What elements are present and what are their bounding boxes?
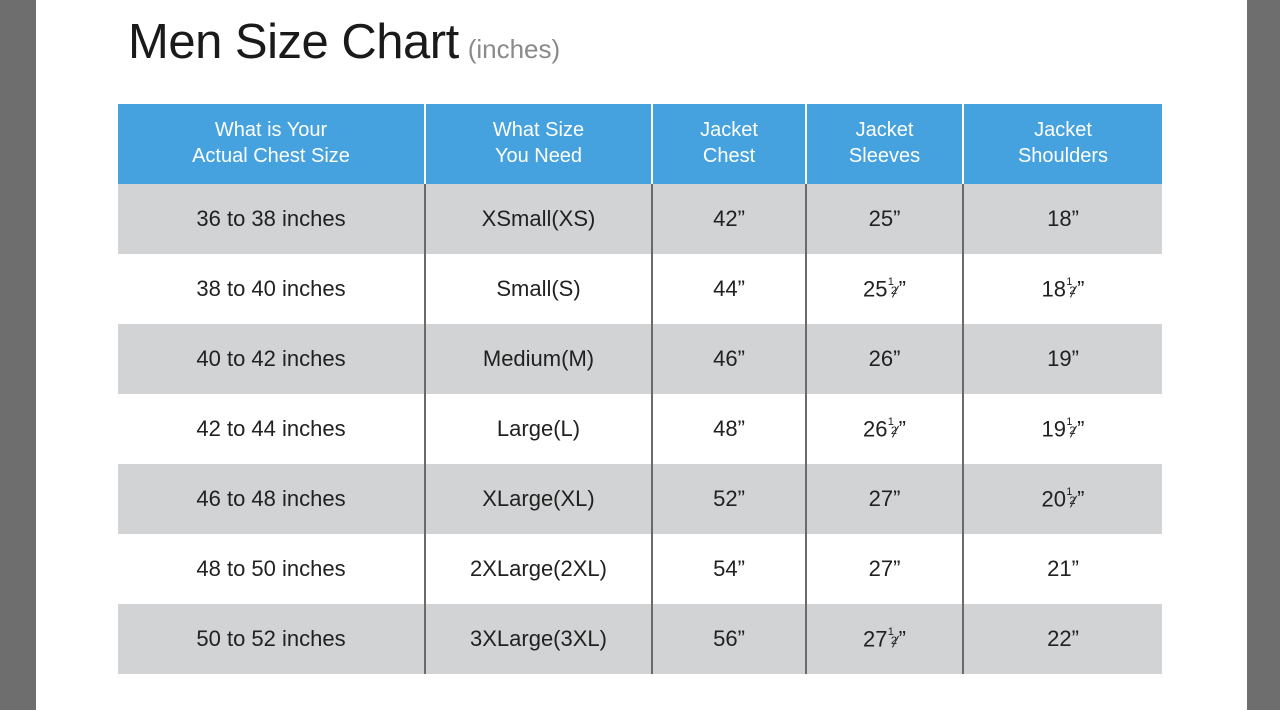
cell-size-you-need: 3XLarge(3XL) <box>425 604 652 674</box>
inch-mark: ” <box>738 276 745 301</box>
inch-mark: ” <box>1072 626 1079 651</box>
inch-mark: ” <box>1072 346 1079 371</box>
size-chart-table: What is YourActual Chest SizeWhat SizeYo… <box>118 104 1162 674</box>
cell-jacket-chest: 52” <box>652 464 806 534</box>
measurement-value: 54 <box>713 556 737 581</box>
header-line-1: What is Your <box>122 117 420 143</box>
cell-jacket-sleeves: 27” <box>806 464 963 534</box>
cell-jacket-chest: 48” <box>652 394 806 464</box>
cell-size-you-need: Small(S) <box>425 254 652 324</box>
measurement-value: 25 <box>869 206 893 231</box>
table-row: 40 to 42 inchesMedium(M)46”26”19” <box>118 324 1162 394</box>
letterbox-left <box>0 0 36 710</box>
fraction-denominator: 2 <box>891 286 897 297</box>
header-line-2: Actual Chest Size <box>122 143 420 169</box>
cell-actual-chest-size: 42 to 44 inches <box>118 394 425 464</box>
half-fraction-glyph: 12 <box>888 625 899 646</box>
half-fraction-glyph: 12 <box>1066 415 1077 436</box>
cell-actual-chest-size: 36 to 38 inches <box>118 184 425 254</box>
header-line-1: Jacket <box>657 117 801 143</box>
cell-jacket-chest: 54” <box>652 534 806 604</box>
table-body: 36 to 38 inchesXSmall(XS)42”25”18”38 to … <box>118 184 1162 674</box>
measurement-value: 56 <box>713 626 737 651</box>
page-title-units: (inches) <box>468 34 560 65</box>
inch-mark: ” <box>738 556 745 581</box>
measurement-value: 18 <box>1047 206 1071 231</box>
cell-jacket-chest: 46” <box>652 324 806 394</box>
inch-mark: ” <box>738 346 745 371</box>
header-line-1: What Size <box>430 117 647 143</box>
col-header-jacket-shoulders: JacketShoulders <box>963 104 1162 184</box>
cell-actual-chest-size: 46 to 48 inches <box>118 464 425 534</box>
table-header-row: What is YourActual Chest SizeWhat SizeYo… <box>118 104 1162 184</box>
cell-actual-chest-size: 38 to 40 inches <box>118 254 425 324</box>
table-header: What is YourActual Chest SizeWhat SizeYo… <box>118 104 1162 184</box>
cell-jacket-shoulders: 2012” <box>963 464 1162 534</box>
cell-jacket-chest: 44” <box>652 254 806 324</box>
screenshot-viewport: Men Size Chart(inches) What is YourActua… <box>0 0 1280 710</box>
measurement-value: 22 <box>1047 626 1071 651</box>
col-header-jacket-sleeves: JacketSleeves <box>806 104 963 184</box>
col-header-jacket-chest: JacketChest <box>652 104 806 184</box>
inch-mark: ” <box>738 206 745 231</box>
measurement-value: 27 <box>869 486 893 511</box>
inch-mark: ” <box>1077 416 1084 441</box>
measurement-value: 18 <box>1042 276 1066 301</box>
half-fraction-glyph: 12 <box>888 275 899 296</box>
cell-jacket-sleeves: 26” <box>806 324 963 394</box>
cell-jacket-shoulders: 21” <box>963 534 1162 604</box>
cell-jacket-shoulders: 18” <box>963 184 1162 254</box>
header-line-2: You Need <box>430 143 647 169</box>
cell-size-you-need: Medium(M) <box>425 324 652 394</box>
table-row: 46 to 48 inchesXLarge(XL)52”27”2012” <box>118 464 1162 534</box>
cell-jacket-shoulders: 19” <box>963 324 1162 394</box>
cell-jacket-chest: 42” <box>652 184 806 254</box>
header-line-1: Jacket <box>968 117 1158 143</box>
fraction-denominator: 2 <box>1069 286 1075 297</box>
measurement-value: 21 <box>1047 556 1071 581</box>
fraction-denominator: 2 <box>891 426 897 437</box>
measurement-value: 46 <box>713 346 737 371</box>
inch-mark: ” <box>893 556 900 581</box>
inch-mark: ” <box>1077 276 1084 301</box>
cell-size-you-need: XSmall(XS) <box>425 184 652 254</box>
inch-mark: ” <box>1072 556 1079 581</box>
inch-mark: ” <box>893 346 900 371</box>
fraction-denominator: 2 <box>1069 496 1075 507</box>
cell-size-you-need: Large(L) <box>425 394 652 464</box>
measurement-value: 26 <box>863 416 887 441</box>
col-header-size-you-need: What SizeYou Need <box>425 104 652 184</box>
measurement-value: 44 <box>713 276 737 301</box>
cell-jacket-shoulders: 1812” <box>963 254 1162 324</box>
cell-jacket-shoulders: 22” <box>963 604 1162 674</box>
fraction-denominator: 2 <box>1069 426 1075 437</box>
header-line-2: Sleeves <box>811 143 958 169</box>
half-fraction-glyph: 12 <box>1066 275 1077 296</box>
header-line-2: Chest <box>657 143 801 169</box>
cell-actual-chest-size: 40 to 42 inches <box>118 324 425 394</box>
cell-jacket-sleeves: 25” <box>806 184 963 254</box>
table-row: 42 to 44 inchesLarge(L)48”2612”1912” <box>118 394 1162 464</box>
letterbox-right <box>1247 0 1280 710</box>
cell-jacket-sleeves: 27” <box>806 534 963 604</box>
cell-jacket-chest: 56” <box>652 604 806 674</box>
cell-jacket-sleeves: 2712” <box>806 604 963 674</box>
table-row: 48 to 50 inches2XLarge(2XL)54”27”21” <box>118 534 1162 604</box>
measurement-value: 27 <box>869 556 893 581</box>
measurement-value: 25 <box>863 276 887 301</box>
header-line-1: Jacket <box>811 117 958 143</box>
inch-mark: ” <box>1072 206 1079 231</box>
inch-mark: ” <box>899 626 906 651</box>
measurement-value: 26 <box>869 346 893 371</box>
chart-page: Men Size Chart(inches) What is YourActua… <box>36 0 1247 710</box>
table-row: 36 to 38 inchesXSmall(XS)42”25”18” <box>118 184 1162 254</box>
inch-mark: ” <box>738 626 745 651</box>
inch-mark: ” <box>899 416 906 441</box>
inch-mark: ” <box>893 486 900 511</box>
fraction-denominator: 2 <box>891 636 897 647</box>
cell-jacket-sleeves: 2512” <box>806 254 963 324</box>
inch-mark: ” <box>738 486 745 511</box>
measurement-value: 42 <box>713 206 737 231</box>
measurement-value: 19 <box>1042 416 1066 441</box>
inch-mark: ” <box>1077 486 1084 511</box>
measurement-value: 20 <box>1042 486 1066 511</box>
header-line-2: Shoulders <box>968 143 1158 169</box>
table-row: 38 to 40 inchesSmall(S)44”2512”1812” <box>118 254 1162 324</box>
measurement-value: 52 <box>713 486 737 511</box>
table-row: 50 to 52 inches3XLarge(3XL)56”2712”22” <box>118 604 1162 674</box>
measurement-value: 27 <box>863 626 887 651</box>
cell-actual-chest-size: 50 to 52 inches <box>118 604 425 674</box>
half-fraction-glyph: 12 <box>1066 485 1077 506</box>
cell-actual-chest-size: 48 to 50 inches <box>118 534 425 604</box>
cell-jacket-sleeves: 2612” <box>806 394 963 464</box>
inch-mark: ” <box>738 416 745 441</box>
inch-mark: ” <box>893 206 900 231</box>
measurement-value: 48 <box>713 416 737 441</box>
col-header-actual-chest-size: What is YourActual Chest Size <box>118 104 425 184</box>
inch-mark: ” <box>899 276 906 301</box>
cell-size-you-need: 2XLarge(2XL) <box>425 534 652 604</box>
cell-jacket-shoulders: 1912” <box>963 394 1162 464</box>
cell-size-you-need: XLarge(XL) <box>425 464 652 534</box>
page-title-main: Men Size Chart <box>128 18 459 67</box>
page-title: Men Size Chart(inches) <box>128 18 560 67</box>
measurement-value: 19 <box>1047 346 1071 371</box>
half-fraction-glyph: 12 <box>888 415 899 436</box>
